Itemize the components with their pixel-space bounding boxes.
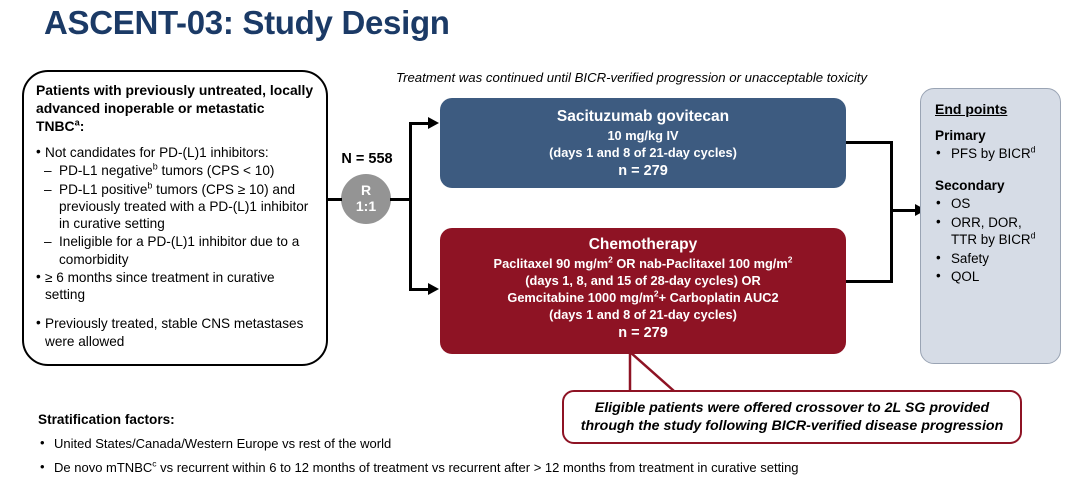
arm-chemo-name: Chemotherapy xyxy=(440,235,846,255)
endpoint-item-secondary-orr: • ORR, DOR, TTR by BICRd xyxy=(935,215,1050,249)
patient-bullet-1-text: Not candidates for PD-(L)1 inhibitors: xyxy=(45,145,269,160)
stratification-title: Stratification factors: xyxy=(38,412,799,428)
arm-chemo-carboplatin-dose: + Carboplatin AUC2 xyxy=(659,290,779,305)
connector-converge-vertical xyxy=(890,141,893,283)
treatment-duration-caption: Treatment was continued until BICR-verif… xyxy=(396,70,867,85)
connector-branch-to-chemo xyxy=(409,288,429,291)
footnote-marker-d: d xyxy=(1031,230,1036,240)
patient-subitem-2-post: tumors (CPS ≥ 10) and xyxy=(152,182,295,197)
treatment-arm-sacituzumab-govitecan: Sacituzumab govitecan 10 mg/kg IV (days … xyxy=(440,98,846,188)
endpoint-secondary-os-text: OS xyxy=(951,196,970,211)
arm-chemo-sample-size: n = 279 xyxy=(440,325,846,341)
connector-sg-to-endpoints xyxy=(846,141,893,144)
bullet-dot-icon: • xyxy=(936,214,941,231)
patient-box-heading: Patients with previously untreated, loca… xyxy=(36,81,316,135)
arm-chemo-regimen-line1: Paclitaxel 90 mg/m2 OR nab-Paclitaxel 10… xyxy=(440,255,846,272)
arrowhead-to-sg-arm xyxy=(428,117,439,129)
randomization-node: R 1:1 xyxy=(341,174,391,224)
patient-subitem-3-line2: comorbidity xyxy=(59,252,129,267)
page-title: ASCENT-03: Study Design xyxy=(44,4,450,42)
stratification-item-recurrence-post: vs recurrent within 6 to 12 months of tr… xyxy=(157,460,799,475)
spacer xyxy=(935,165,1050,178)
randomization-ratio: 1:1 xyxy=(356,199,376,215)
spacer xyxy=(36,304,316,315)
arm-sg-name: Sacituzumab govitecan xyxy=(440,107,846,127)
connector-branch-to-sg xyxy=(409,122,429,125)
patient-subitem-1: – PD-L1 negativeb tumors (CPS < 10) xyxy=(36,162,316,179)
bullet-dot-icon: • xyxy=(936,145,941,162)
patient-subitem-3-line1: Ineligible for a PD-(L)1 inhibitor due t… xyxy=(59,234,299,249)
endpoint-item-primary-pfs: • PFS by BICRd xyxy=(935,146,1050,163)
bullet-dot-icon: • xyxy=(40,459,45,475)
patient-subitem-2-line3: in curative setting xyxy=(59,216,165,231)
patient-bullet-1: • Not candidates for PD-(L)1 inhibitors: xyxy=(36,144,316,161)
bullet-dot-icon: • xyxy=(36,268,41,285)
crossover-callout-pointer xyxy=(628,350,716,392)
connector-stem-to-endpoints xyxy=(890,209,918,212)
total-enrollment-label: N = 558 xyxy=(331,151,403,167)
patient-bullet-2-line2: setting xyxy=(45,287,85,302)
arm-chemo-regimen-line4: (days 1 and 8 of 21-day cycles) xyxy=(440,306,846,323)
endpoint-item-secondary-qol: • QOL xyxy=(935,269,1050,286)
connector-chemo-to-endpoints xyxy=(846,280,893,283)
patient-heading-line1: Patients with previously untreated, loca… xyxy=(36,82,313,98)
patient-subitem-1-post: tumors (CPS < 10) xyxy=(158,163,275,178)
endpoint-item-secondary-safety: • Safety xyxy=(935,251,1050,268)
bullet-dot-icon: • xyxy=(936,195,941,212)
randomization-label: R xyxy=(361,183,371,199)
connector-split-vertical xyxy=(409,122,412,291)
dash-icon: – xyxy=(44,233,52,250)
patient-subitem-2-line2: previously treated with a PD-(L)1 inhibi… xyxy=(59,199,308,214)
patient-heading-colon: : xyxy=(80,118,85,134)
stratification-item-recurrence-pre: De novo mTNBC xyxy=(54,460,152,475)
superscript-squared: 2 xyxy=(788,255,793,265)
arm-chemo-gemcitabine-dose: Gemcitabine 1000 mg/m xyxy=(507,290,654,305)
arm-chemo-nab-paclitaxel-dose: OR nab-Paclitaxel 100 mg/m xyxy=(613,256,788,271)
endpoint-item-secondary-os: • OS xyxy=(935,196,1050,213)
stratification-item-region-text: United States/Canada/Western Europe vs r… xyxy=(54,436,391,451)
patient-bullet-3: • Previously treated, stable CNS metasta… xyxy=(36,315,316,350)
bullet-dot-icon: • xyxy=(936,250,941,267)
patient-bullet-3-line2: were allowed xyxy=(45,334,124,349)
patient-eligibility-box: Patients with previously untreated, loca… xyxy=(22,70,328,366)
connector-line-into-randomization xyxy=(328,198,342,201)
endpoint-secondary-ttr-text: TTR by BICR xyxy=(951,232,1031,247)
bullet-dot-icon: • xyxy=(36,314,41,331)
patient-heading-line2: advanced inoperable or metastatic TNBC xyxy=(36,100,265,134)
arm-chemo-regimen-line2: (days 1, 8, and 15 of 28-day cycles) OR xyxy=(440,272,846,289)
endpoint-primary-pfs-text: PFS by BICR xyxy=(951,146,1031,161)
patient-bullet-2-line1: ≥ 6 months since treatment in curative xyxy=(45,270,275,285)
endpoints-secondary-label: Secondary xyxy=(935,178,1050,193)
stratification-item-region: • United States/Canada/Western Europe vs… xyxy=(38,436,799,452)
stratification-factors: Stratification factors: • United States/… xyxy=(38,412,799,484)
patient-subitem-2-pre: PD-L1 positive xyxy=(59,182,147,197)
stratification-item-recurrence: • De novo mTNBCc vs recurrent within 6 t… xyxy=(38,460,799,476)
arm-sg-sample-size: n = 279 xyxy=(440,163,846,179)
treatment-arm-chemotherapy: Chemotherapy Paclitaxel 90 mg/m2 OR nab-… xyxy=(440,228,846,354)
bullet-dot-icon: • xyxy=(40,435,45,451)
patient-bullet-3-line1: Previously treated, stable CNS metastase… xyxy=(45,316,303,331)
arm-chemo-paclitaxel-dose: Paclitaxel 90 mg/m xyxy=(494,256,609,271)
arm-chemo-regimen-line3: Gemcitabine 1000 mg/m2+ Carboplatin AUC2 xyxy=(440,289,846,306)
endpoint-secondary-orr-text: ORR, DOR, xyxy=(951,215,1022,230)
bullet-dot-icon: • xyxy=(936,268,941,285)
dash-icon: – xyxy=(44,181,52,198)
endpoints-panel: End points Primary • PFS by BICRd Second… xyxy=(920,88,1061,364)
arrowhead-to-chemo-arm xyxy=(428,283,439,295)
endpoints-title: End points xyxy=(935,101,1050,117)
arm-sg-schedule: (days 1 and 8 of 21-day cycles) xyxy=(440,144,846,161)
patient-subitem-1-pre: PD-L1 negative xyxy=(59,163,153,178)
patient-subitem-2: – PD-L1 positiveb tumors (CPS ≥ 10) and … xyxy=(36,181,316,233)
patient-bullet-2: • ≥ 6 months since treatment in curative… xyxy=(36,269,316,304)
bullet-dot-icon: • xyxy=(36,143,41,160)
arm-sg-dose: 10 mg/kg IV xyxy=(440,127,846,144)
dash-icon: – xyxy=(44,162,52,179)
endpoint-secondary-qol-text: QOL xyxy=(951,269,979,284)
footnote-marker-d: d xyxy=(1031,145,1036,155)
endpoint-secondary-safety-text: Safety xyxy=(951,251,989,266)
endpoints-primary-label: Primary xyxy=(935,128,1050,143)
patient-subitem-3: – Ineligible for a PD-(L)1 inhibitor due… xyxy=(36,233,316,268)
